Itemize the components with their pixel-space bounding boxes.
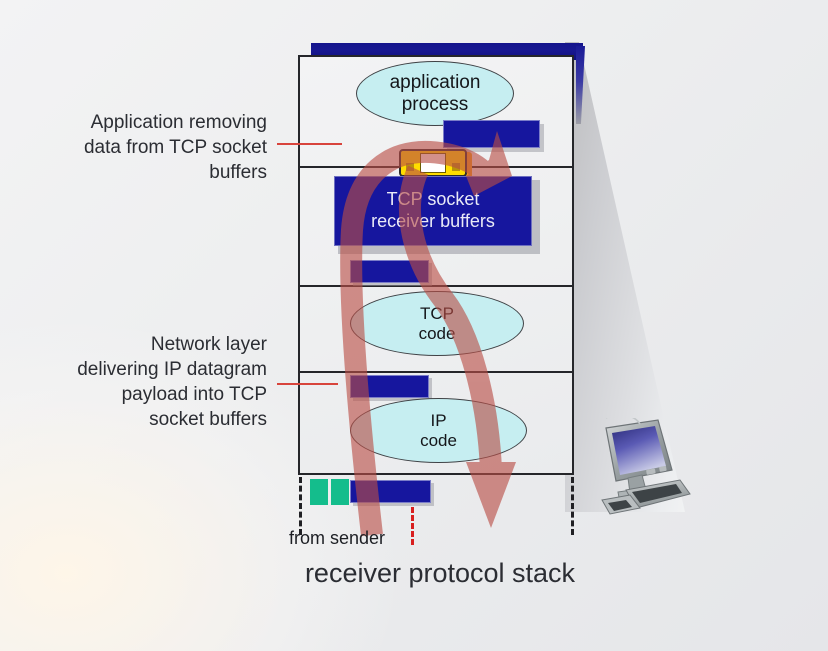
layer-divider-transport-network bbox=[298, 285, 574, 287]
socket-icon-center bbox=[420, 153, 446, 173]
annotation-application-line1: Application removing bbox=[22, 110, 267, 135]
network-data-bar bbox=[350, 375, 429, 398]
annotation-application-line2: data from TCP socket bbox=[22, 135, 267, 160]
annotation-network-line2: delivering IP datagram bbox=[22, 357, 267, 382]
diagram-canvas: application process TCP socket receiver … bbox=[0, 0, 828, 651]
application-process-line2: process bbox=[402, 94, 469, 115]
desktop-computer-icon bbox=[596, 418, 692, 516]
annotation-network-line1: Network layer bbox=[22, 332, 267, 357]
page-title: receiver protocol stack bbox=[280, 558, 600, 589]
annotation-network-line3: payload into TCP bbox=[22, 382, 267, 407]
tcp-code-line1: TCP bbox=[420, 304, 454, 323]
wire-marker-red-dashed-line bbox=[411, 507, 414, 545]
transport-data-bar bbox=[350, 260, 429, 283]
application-process-line1: application bbox=[390, 72, 481, 93]
wire-data-bar bbox=[350, 480, 431, 503]
annotation-network-line4: socket buffers bbox=[22, 407, 267, 432]
ip-code-line1: IP bbox=[430, 411, 446, 430]
wire-boundary-right-dashed-line bbox=[571, 477, 574, 535]
annotation-leader-line-network bbox=[277, 383, 338, 385]
tcp-socket-receiver-buffers-box: TCP socket receiver buffers bbox=[334, 176, 532, 246]
annotation-application-line3: buffers bbox=[22, 160, 267, 185]
from-sender-label: from sender bbox=[289, 528, 385, 549]
tcp-socket-buffers-line1: TCP socket bbox=[387, 189, 480, 211]
tcp-code-node: TCP code bbox=[350, 291, 524, 356]
ip-datagram-segment-2 bbox=[331, 479, 349, 505]
socket-icon-pin-left bbox=[406, 163, 414, 171]
ip-code-node: IP code bbox=[350, 398, 527, 463]
socket-icon-pin-right bbox=[452, 163, 460, 171]
ip-code-line2: code bbox=[420, 431, 457, 450]
annotation-application-removing: Application removing data from TCP socke… bbox=[22, 110, 267, 185]
tcp-code-line2: code bbox=[419, 324, 456, 343]
layer-divider-network-link bbox=[298, 371, 574, 373]
tcp-socket-buffers-line2: receiver buffers bbox=[371, 211, 495, 233]
ip-datagram-segment-1 bbox=[310, 479, 328, 505]
annotation-leader-line-application bbox=[277, 143, 342, 145]
annotation-network-layer-delivering: Network layer delivering IP datagram pay… bbox=[22, 332, 267, 432]
application-data-bar bbox=[443, 120, 540, 148]
wire-boundary-left-dashed-line bbox=[299, 477, 302, 535]
application-process-node: application process bbox=[356, 61, 514, 126]
